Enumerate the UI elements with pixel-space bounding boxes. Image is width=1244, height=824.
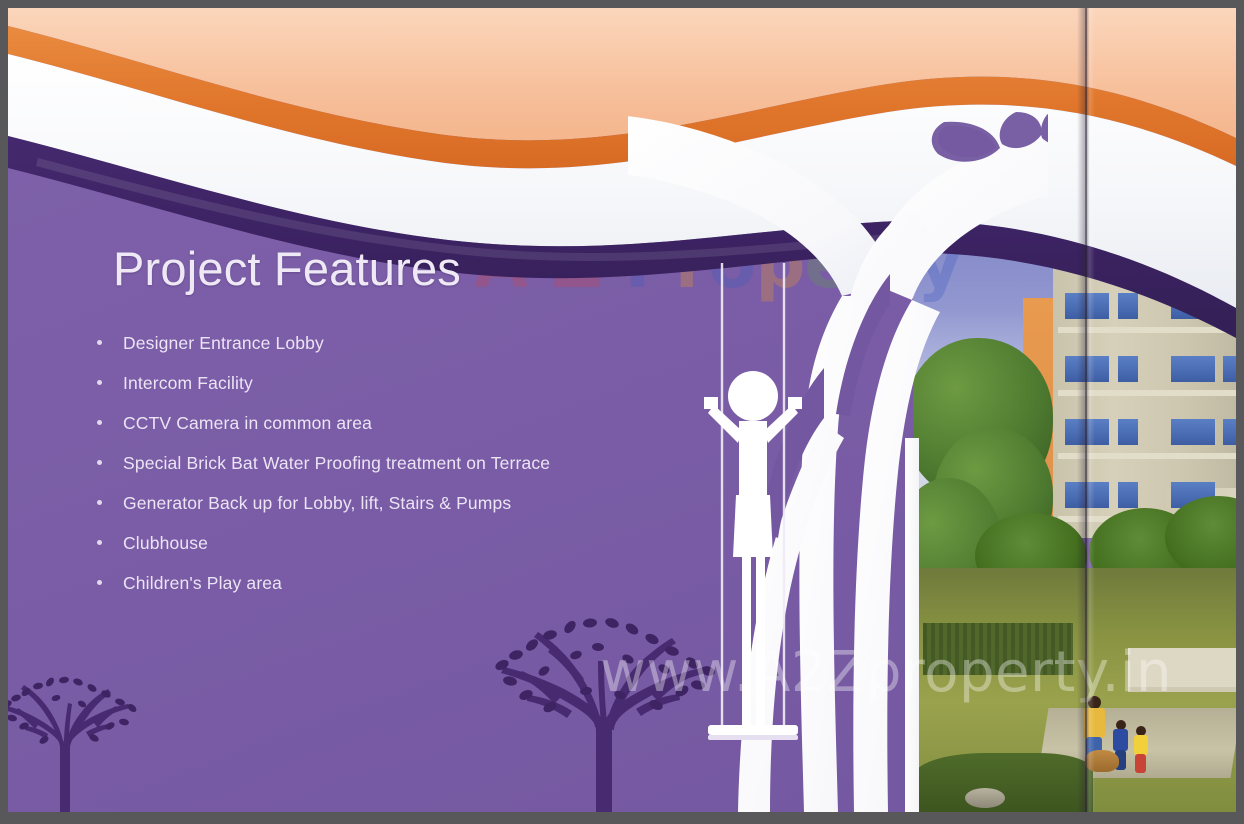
child-torso	[1113, 729, 1128, 751]
window	[1171, 293, 1215, 319]
bullet-dot-icon	[97, 340, 102, 345]
list-item: Designer Entrance Lobby	[88, 323, 878, 363]
child-legs	[1135, 754, 1146, 773]
list-item-label: CCTV Camera in common area	[123, 413, 372, 433]
list-item: CCTV Camera in common area	[88, 403, 878, 443]
bullet-dot-icon	[97, 420, 102, 425]
bullet-dot-icon	[97, 580, 102, 585]
building-photo	[913, 8, 1236, 812]
list-item-label: Special Brick Bat Water Proofing treatme…	[123, 453, 550, 473]
window	[1223, 293, 1236, 319]
window	[1171, 356, 1215, 382]
list-item-label: Generator Back up for Lobby, lift, Stair…	[123, 493, 511, 513]
list-item-label: Intercom Facility	[123, 373, 253, 393]
window	[1171, 230, 1215, 256]
list-item-label: Children's Play area	[123, 573, 282, 593]
list-item: Special Brick Bat Water Proofing treatme…	[88, 443, 878, 483]
brochure-page: A2Z Property	[0, 0, 1244, 824]
list-item: Clubhouse	[88, 523, 878, 563]
list-item-label: Designer Entrance Lobby	[123, 333, 324, 353]
window	[1118, 356, 1138, 382]
list-item-label: Clubhouse	[123, 533, 208, 553]
boundary-wall	[1128, 648, 1236, 692]
child-figure	[1132, 726, 1150, 774]
lawn-edge-planting	[913, 753, 1093, 812]
window	[1223, 230, 1236, 256]
bullet-dot-icon	[97, 540, 102, 545]
photo-hedge	[923, 623, 1073, 675]
page-fold-line	[1085, 8, 1087, 812]
page-title: Project Features	[113, 241, 461, 296]
feature-list: Designer Entrance Lobby Intercom Facilit…	[88, 323, 878, 603]
window	[1118, 419, 1138, 445]
window	[1171, 419, 1215, 445]
page-canvas: A2Z Property	[8, 8, 1236, 812]
list-item: Children's Play area	[88, 563, 878, 603]
list-item: Intercom Facility	[88, 363, 878, 403]
window	[1118, 230, 1138, 256]
garden-rock	[965, 788, 1005, 808]
window	[1118, 293, 1138, 319]
bullet-dot-icon	[97, 460, 102, 465]
child-torso	[1134, 735, 1148, 755]
content-area: Project Features Designer Entrance Lobby…	[8, 8, 913, 812]
list-item: Generator Back up for Lobby, lift, Stair…	[88, 483, 878, 523]
window	[1118, 482, 1138, 508]
window	[1223, 419, 1236, 445]
window	[1223, 356, 1236, 382]
bullet-dot-icon	[97, 380, 102, 385]
bullet-dot-icon	[97, 500, 102, 505]
